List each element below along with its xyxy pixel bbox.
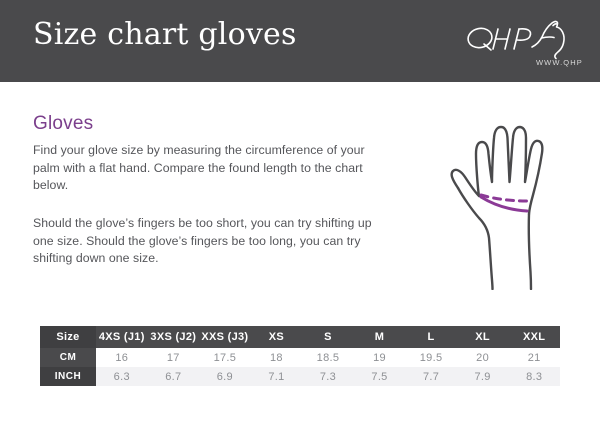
hand-measurement-illustration: [432, 100, 582, 290]
cell-inch-xs: 7.1: [251, 367, 303, 386]
column-header-3xs: 3XS (J2): [148, 326, 200, 348]
column-header-l: L: [405, 326, 457, 348]
cell-cm-xxs: 17.5: [199, 348, 251, 367]
table-header-row: Size 4XS (J1) 3XS (J2) XXS (J3) XS S M L…: [40, 326, 560, 348]
column-header-s: S: [302, 326, 354, 348]
cell-cm-xxl: 21: [508, 348, 560, 367]
horse-head-logo: WWW.QHP.NL: [462, 16, 582, 70]
cell-cm-s: 18.5: [302, 348, 354, 367]
table-row: CM 16 17 17.5 18 18.5 19 19.5 20 21: [40, 348, 560, 367]
qhp-logo: WWW.QHP.NL: [462, 16, 582, 70]
column-header-xxl: XXL: [508, 326, 560, 348]
row-label-cm: CM: [40, 348, 96, 367]
cell-cm-4xs: 16: [96, 348, 148, 367]
cell-inch-3xs: 6.7: [148, 367, 200, 386]
page-title: Size chart gloves: [33, 20, 297, 50]
size-chart-table: Size 4XS (J1) 3XS (J2) XXS (J3) XS S M L…: [40, 326, 560, 386]
column-header-xs: XS: [251, 326, 303, 348]
cell-inch-xxs: 6.9: [199, 367, 251, 386]
cell-cm-3xs: 17: [148, 348, 200, 367]
cell-cm-l: 19.5: [405, 348, 457, 367]
cell-cm-xs: 18: [251, 348, 303, 367]
cell-cm-xl: 20: [457, 348, 509, 367]
column-header-m: M: [354, 326, 406, 348]
cell-cm-m: 19: [354, 348, 406, 367]
cell-inch-m: 7.5: [354, 367, 406, 386]
intro-paragraph: Find your glove size by measuring the ci…: [33, 142, 393, 195]
size-chart-page: Size chart gloves: [0, 0, 600, 428]
cell-inch-s: 7.3: [302, 367, 354, 386]
logo-url-text: WWW.QHP.NL: [536, 58, 582, 67]
fit-advice-paragraph: Should the glove’s fingers be too short,…: [33, 215, 393, 268]
header-band: Size chart gloves: [0, 0, 600, 82]
cell-inch-xl: 7.9: [457, 367, 509, 386]
column-header-size: Size: [40, 326, 96, 348]
measurement-line: [481, 195, 528, 211]
cell-inch-xxl: 8.3: [508, 367, 560, 386]
cell-inch-l: 7.7: [405, 367, 457, 386]
hand-outline: [452, 127, 543, 289]
section-title: Gloves: [33, 114, 93, 133]
column-header-xl: XL: [457, 326, 509, 348]
column-header-xxs: XXS (J3): [199, 326, 251, 348]
table-row: INCH 6.3 6.7 6.9 7.1 7.3 7.5 7.7 7.9 8.3: [40, 367, 560, 386]
row-label-inch: INCH: [40, 367, 96, 386]
column-header-4xs: 4XS (J1): [96, 326, 148, 348]
cell-inch-4xs: 6.3: [96, 367, 148, 386]
